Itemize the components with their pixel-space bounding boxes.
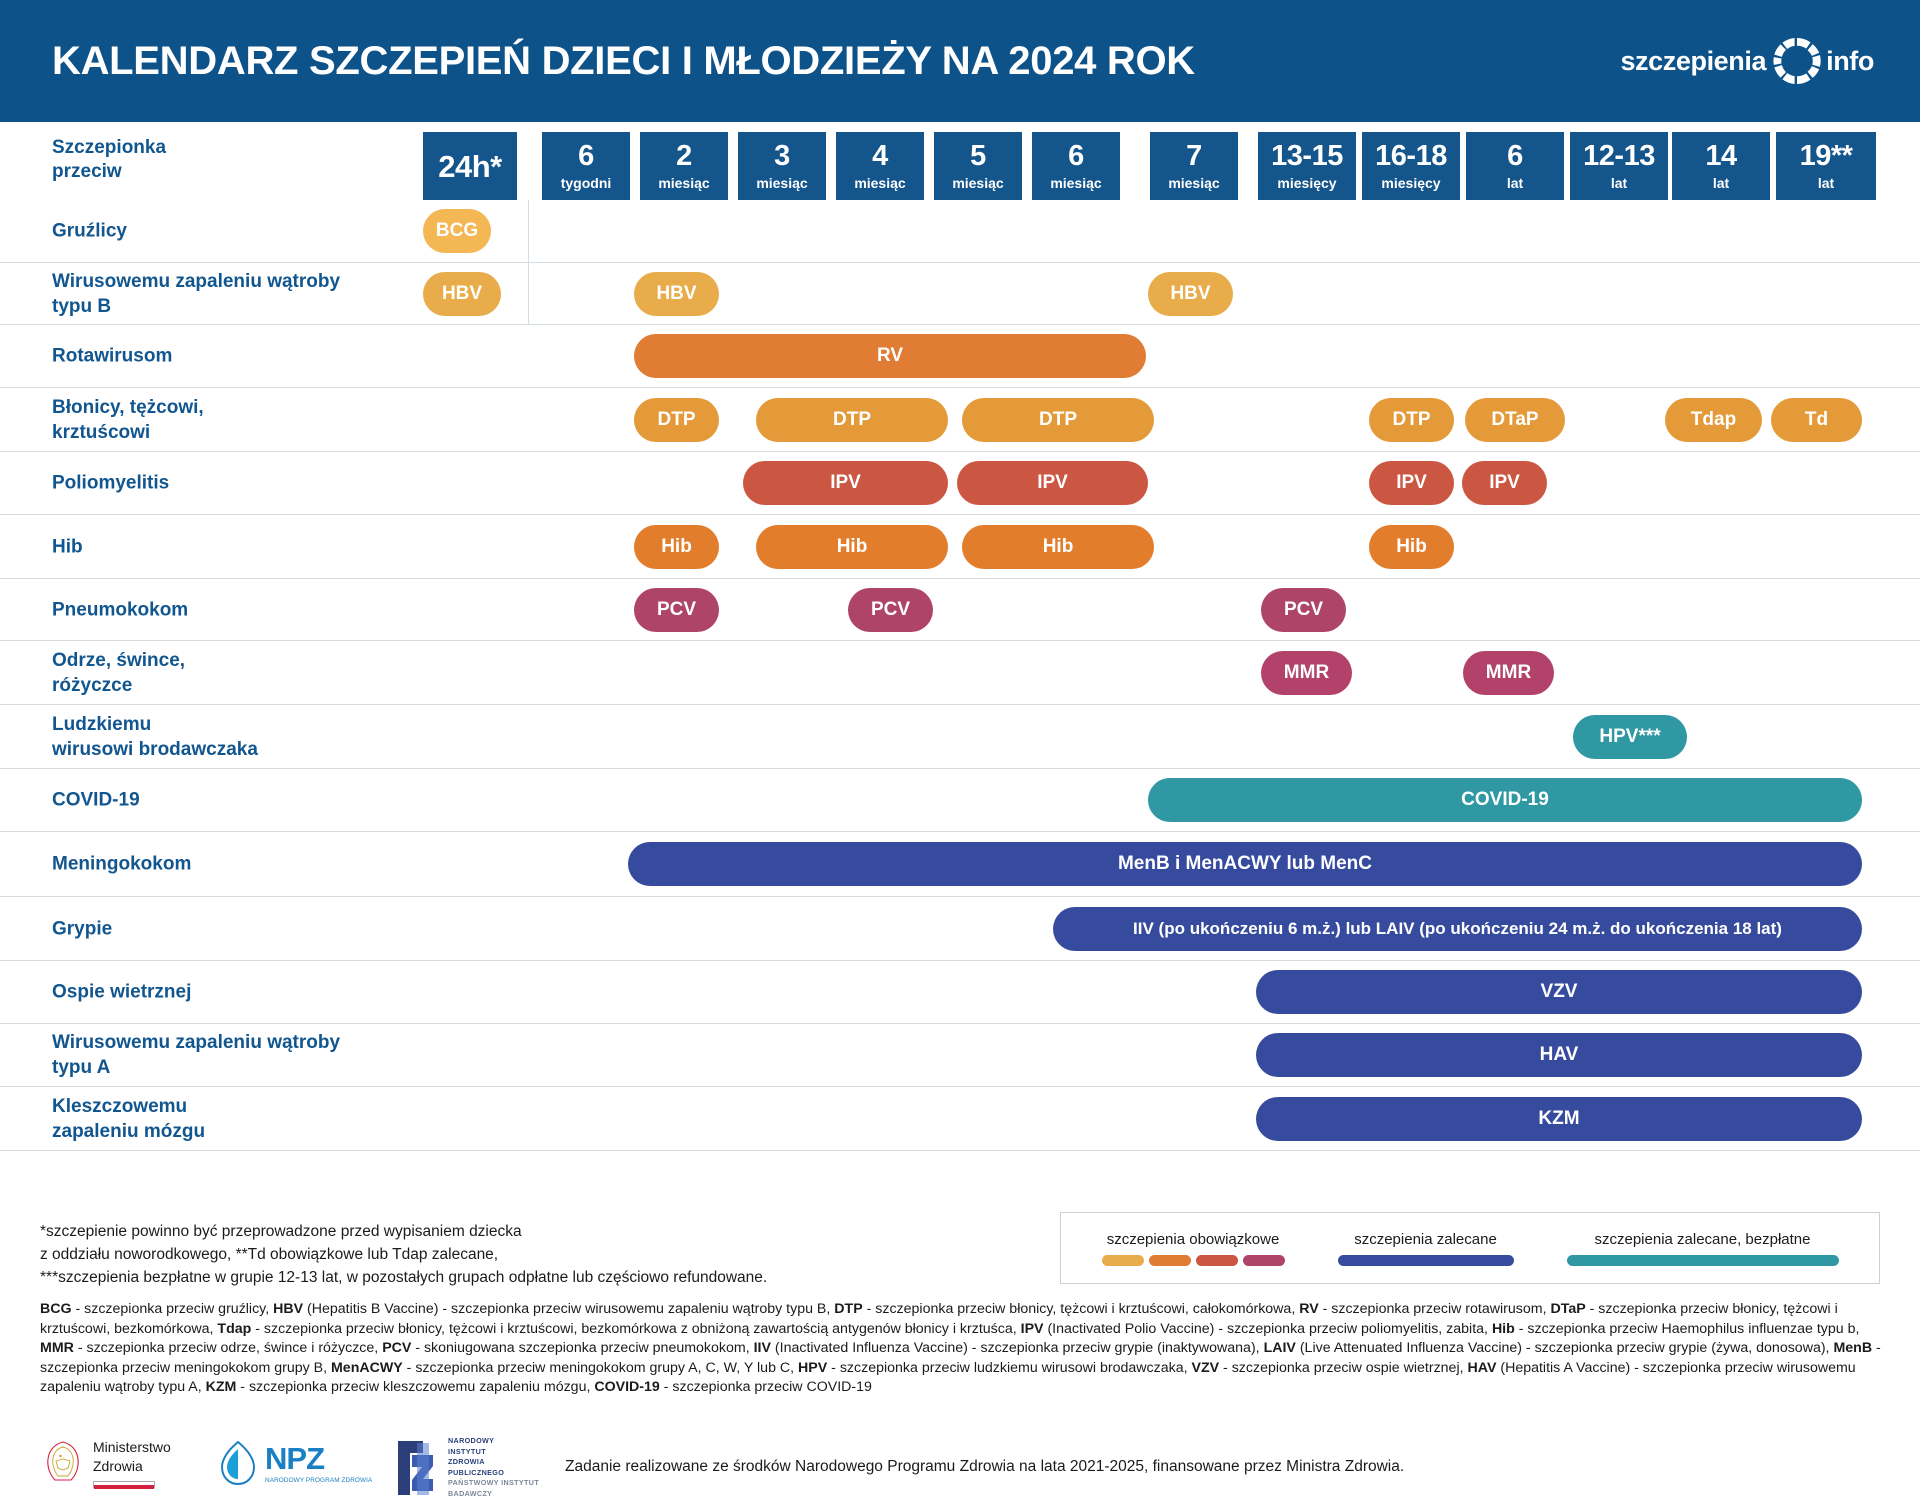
column-header-value: 16-18 [1375, 142, 1447, 171]
pzh-wordmark: NARODOWY INSTYTUT ZDROWIA PUBLICZNEGO PA… [448, 1436, 539, 1498]
column-header-unit: tygodni [561, 176, 612, 190]
column-header-unit: miesiąc [1168, 176, 1219, 190]
legend: szczepienia obowiązkoweszczepienia zalec… [1060, 1212, 1880, 1284]
vaccine-pill[interactable]: Td [1771, 398, 1862, 442]
vaccine-pill[interactable]: DTP [756, 398, 948, 442]
pzh-line-6: BADAWCZY [448, 1489, 539, 1498]
vaccine-pill[interactable]: Hib [962, 525, 1154, 569]
row-label: Meningokokom [52, 852, 442, 877]
page-footer: Ministerstwo Zdrowia NPZ NARODOWY PROGRA… [0, 1432, 1920, 1498]
row-label: Rotawirusom [52, 344, 442, 369]
row-label-line: typu A [52, 1055, 442, 1080]
row-label-line: Odrze, śwince, [52, 648, 442, 673]
vaccine-pill[interactable]: VZV [1256, 970, 1862, 1014]
calendar-row: Błonicy, tężcowi,krztuścowiDTPDTPDTPDTPD… [0, 388, 1920, 452]
row-label-line: Meningokokom [52, 852, 442, 877]
vaccine-pill[interactable]: DTP [1369, 398, 1454, 442]
pzh-line-1: NARODOWY [448, 1436, 539, 1447]
column-header-c24h: 24h* [423, 132, 517, 200]
ministry-of-health-logo: Ministerstwo Zdrowia [42, 1438, 171, 1488]
ministry-line-2: Zdrowia [93, 1457, 171, 1476]
npz-droplet-icon [218, 1440, 258, 1486]
column-header-c1618m: 16-18miesięcy [1362, 132, 1460, 200]
vaccine-pill[interactable]: IPV [743, 461, 948, 505]
column-header-c7m: 7miesiąc [1150, 132, 1238, 200]
column-header-unit: lat [1611, 176, 1627, 190]
szczepienia-info-logo: szczepienia [1620, 30, 1874, 92]
legend-swatches [1102, 1255, 1285, 1266]
calendar-row: PneumokokomPCVPCVPCV [0, 579, 1920, 641]
footnotes: *szczepienie powinno być przeprowadzone … [40, 1220, 920, 1289]
vaccine-pill[interactable]: HPV*** [1573, 715, 1687, 759]
vaccine-pill[interactable]: BCG [423, 209, 491, 253]
column-header-value: 19** [1800, 142, 1853, 171]
vaccine-pill[interactable]: IPV [957, 461, 1148, 505]
calendar-row: GruźlicyBCG [0, 200, 1920, 263]
row-label-line: zapaleniu mózgu [52, 1119, 442, 1144]
column-header-value: 14 [1705, 142, 1736, 171]
pzh-line-3: ZDROWIA [448, 1457, 539, 1468]
npz-wordmark: NPZ NARODOWY PROGRAM ZDROWIA [265, 1443, 372, 1484]
calendar-row: Kleszczowemuzapaleniu mózguKZM [0, 1087, 1920, 1151]
legend-swatch [1567, 1255, 1839, 1266]
page-header: KALENDARZ SZCZEPIEŃ DZIECI I MŁODZIEŻY N… [0, 0, 1920, 122]
legend-swatch [1243, 1255, 1285, 1266]
vaccine-pill[interactable]: HBV [634, 272, 719, 316]
legend-item: szczepienia zalecane [1338, 1231, 1514, 1266]
row-label: Wirusowemu zapaleniu wątrobytypu B [52, 269, 442, 319]
vaccine-pill[interactable]: Tdap [1665, 398, 1762, 442]
vaccine-pill[interactable]: PCV [848, 588, 933, 632]
column-header-unit: miesiąc [854, 176, 905, 190]
vaccination-calendar-infographic: KALENDARZ SZCZEPIEŃ DZIECI I MŁODZIEŻY N… [0, 0, 1920, 1498]
vaccine-pill[interactable]: COVID-19 [1148, 778, 1862, 822]
row-label-line: Wirusowemu zapaleniu wątroby [52, 1030, 442, 1055]
vaccine-pill[interactable]: HAV [1256, 1033, 1862, 1077]
vaccine-pill[interactable]: RV [634, 334, 1146, 378]
legend-swatch [1196, 1255, 1238, 1266]
legend-label: szczepienia zalecane, bezpłatne [1595, 1231, 1811, 1248]
vaccine-pill[interactable]: DTP [634, 398, 719, 442]
vaccine-pill[interactable]: MMR [1463, 651, 1554, 695]
column-header-value: 3 [774, 142, 790, 171]
vaccine-pill[interactable]: PCV [634, 588, 719, 632]
row-label: Wirusowemu zapaleniu wątrobytypu A [52, 1030, 442, 1080]
pzh-monogram-icon [393, 1439, 441, 1497]
row-label-line: krztuścowi [52, 420, 442, 445]
row-label: Grypie [52, 916, 442, 941]
column-header-value: 12-13 [1583, 142, 1655, 171]
row-label: Kleszczowemuzapaleniu mózgu [52, 1094, 442, 1144]
ministry-logo-text: Ministerstwo Zdrowia [93, 1438, 171, 1488]
legend-swatch [1102, 1255, 1144, 1266]
column-header-value: 6 [578, 142, 594, 171]
row-label: COVID-19 [52, 788, 442, 813]
column-header-c6m: 6miesiąc [1032, 132, 1120, 200]
column-header-c6w: 6tygodni [542, 132, 630, 200]
column-header-unit: miesięcy [1381, 176, 1440, 190]
column-header-unit: miesiąc [756, 176, 807, 190]
legend-label: szczepienia zalecane [1354, 1231, 1497, 1248]
vaccine-pill[interactable]: HBV [423, 272, 501, 316]
calendar-row: COVID-19COVID-19 [0, 769, 1920, 832]
column-header-value: 24h* [438, 151, 501, 182]
row-label: Ospie wietrznej [52, 980, 442, 1005]
polish-flag-bar [93, 1481, 155, 1488]
vaccine-pill[interactable]: PCV [1261, 588, 1346, 632]
calendar-row: Odrze, śwince,różyczceMMRMMR [0, 641, 1920, 705]
legend-swatches [1338, 1255, 1514, 1266]
legend-label: szczepienia obowiązkowe [1107, 1231, 1280, 1248]
vaccine-pill[interactable]: IPV [1369, 461, 1454, 505]
row-label-line: Pneumokokom [52, 597, 442, 622]
vaccine-pill[interactable]: DTaP [1465, 398, 1565, 442]
row-label-line: Kleszczowemu [52, 1094, 442, 1119]
segmented-c-circle-icon [1766, 30, 1828, 92]
calendar-row: GrypieIIV (po ukończeniu 6 m.ż.) lub LAI… [0, 897, 1920, 961]
row-label-line: Ospie wietrznej [52, 980, 442, 1005]
pzh-line-4: PUBLICZNEGO [448, 1468, 539, 1479]
vaccine-pill[interactable]: DTP [962, 398, 1154, 442]
column-header-unit: lat [1713, 176, 1729, 190]
vaccine-pill[interactable]: IPV [1462, 461, 1547, 505]
vaccine-pill[interactable]: MenB i MenACWY lub MenC [628, 842, 1862, 886]
row-label-line: Gruźlicy [52, 219, 442, 244]
column-header-unit: miesiąc [952, 176, 1003, 190]
column-divider [528, 200, 529, 263]
logo-info-text: info [1826, 46, 1874, 77]
calendar-row: Ludzkiemuwirusowi brodawczakaHPV*** [0, 705, 1920, 769]
page-title: KALENDARZ SZCZEPIEŃ DZIECI I MŁODZIEŻY N… [52, 39, 1195, 84]
row-label: Gruźlicy [52, 219, 442, 244]
column-header-value: 6 [1507, 142, 1523, 171]
legend-swatches [1567, 1255, 1839, 1266]
column-header-value: 5 [970, 142, 986, 171]
legend-swatch [1149, 1255, 1191, 1266]
row-label: Hib [52, 534, 442, 559]
row-label: Ludzkiemuwirusowi brodawczaka [52, 712, 442, 762]
calendar-row: Ospie wietrznejVZV [0, 961, 1920, 1024]
vaccine-pill[interactable]: Hib [1369, 525, 1454, 569]
legend-item: szczepienia zalecane, bezpłatne [1567, 1231, 1839, 1266]
row-label-line: Ludzkiemu [52, 712, 442, 737]
row-label: Poliomyelitis [52, 471, 442, 496]
column-header-value: 7 [1186, 142, 1202, 171]
row-label-line: typu B [52, 294, 442, 319]
column-header-value: 2 [676, 142, 692, 171]
row-label: Odrze, śwince,różyczce [52, 648, 442, 698]
column-header-c4m: 4miesiąc [836, 132, 924, 200]
npz-subtitle: NARODOWY PROGRAM ZDROWIA [265, 1477, 372, 1484]
column-header-c1315m: 13-15miesięcy [1258, 132, 1356, 200]
abbreviation-key: BCG - szczepionka przeciw gruźlicy, HBV … [40, 1300, 1890, 1398]
column-header-c19l: 19**lat [1776, 132, 1876, 200]
vaccine-pill[interactable]: KZM [1256, 1097, 1862, 1141]
row-label-line: Poliomyelitis [52, 471, 442, 496]
vaccine-pill[interactable]: IIV (po ukończeniu 6 m.ż.) lub LAIV (po … [1053, 907, 1862, 951]
pzh-line-2: INSTYTUT [448, 1447, 539, 1458]
calendar-row: HibHibHibHibHib [0, 515, 1920, 579]
column-header-c6l: 6lat [1466, 132, 1564, 200]
row-label: Błonicy, tężcowi,krztuścowi [52, 395, 442, 445]
row-label-line: Grypie [52, 916, 442, 941]
calendar-row: PoliomyelitisIPVIPVIPVIPV [0, 452, 1920, 515]
column-header-c2m: 2miesiąc [640, 132, 728, 200]
column-divider [528, 263, 529, 325]
npz-abbr: NPZ [265, 1443, 372, 1474]
calendar-row: RotawirusomRV [0, 325, 1920, 388]
column-header-value: 4 [872, 142, 888, 171]
column-header-row: Szczepionka przeciw 24h*6tygodni2miesiąc… [0, 132, 1920, 200]
row-label-line: Hib [52, 534, 442, 559]
row-label-line: COVID-19 [52, 788, 442, 813]
polish-eagle-emblem-icon [42, 1439, 84, 1487]
column-header-unit: lat [1507, 176, 1523, 190]
column-header-c1213l: 12-13lat [1570, 132, 1668, 200]
calendar-row: MeningokokomMenB i MenACWY lub MenC [0, 832, 1920, 897]
calendar-row: Wirusowemu zapaleniu wątrobytypu BHBVHBV… [0, 263, 1920, 325]
column-header-c5m: 5miesiąc [934, 132, 1022, 200]
footnote-line-3: ***szczepienia bezpłatne w grupie 12-13 … [40, 1266, 920, 1289]
column-header-unit: miesiąc [658, 176, 709, 190]
column-header-c14l: 14lat [1672, 132, 1770, 200]
column-header-unit: lat [1818, 176, 1834, 190]
row-label-line: wirusowi brodawczaka [52, 737, 442, 762]
row-label-line: różyczce [52, 673, 442, 698]
vaccine-pill[interactable]: Hib [634, 525, 719, 569]
column-header-c3m: 3miesiąc [738, 132, 826, 200]
vaccine-pill[interactable]: MMR [1261, 651, 1352, 695]
logo-wordmark: szczepienia [1620, 46, 1766, 77]
row-label-line: Wirusowemu zapaleniu wątroby [52, 269, 442, 294]
row-label: Pneumokokom [52, 597, 442, 622]
funding-note: Zadanie realizowane ze środków Narodoweg… [565, 1458, 1404, 1476]
row-label-line: Błonicy, tężcowi, [52, 395, 442, 420]
footnote-line-1: *szczepienie powinno być przeprowadzone … [40, 1220, 920, 1243]
column-header-unit: miesiąc [1050, 176, 1101, 190]
npz-logo: NPZ NARODOWY PROGRAM ZDROWIA [218, 1440, 372, 1486]
legend-swatch [1338, 1255, 1514, 1266]
vaccine-pill[interactable]: HBV [1148, 272, 1233, 316]
calendar-row: Wirusowemu zapaleniu wątrobytypu AHAV [0, 1024, 1920, 1087]
nizp-pzh-logo: NARODOWY INSTYTUT ZDROWIA PUBLICZNEGO PA… [393, 1436, 539, 1498]
row-label-column-header: Szczepionka przeciw [52, 136, 166, 184]
vaccine-pill[interactable]: Hib [756, 525, 948, 569]
column-header-value: 13-15 [1271, 142, 1343, 171]
column-header-unit: miesięcy [1277, 176, 1336, 190]
ministry-line-1: Ministerstwo [93, 1438, 171, 1457]
row-label-line: Rotawirusom [52, 344, 442, 369]
column-header-value: 6 [1068, 142, 1084, 171]
calendar-grid: GruźlicyBCGWirusowemu zapaleniu wątrobyt… [0, 200, 1920, 1151]
pzh-line-5: PAŃSTWOWY INSTYTUT [448, 1478, 539, 1489]
footnote-line-2: z oddziału noworodkowego, **Td obowiązko… [40, 1243, 920, 1266]
legend-item: szczepienia obowiązkowe [1102, 1231, 1285, 1266]
